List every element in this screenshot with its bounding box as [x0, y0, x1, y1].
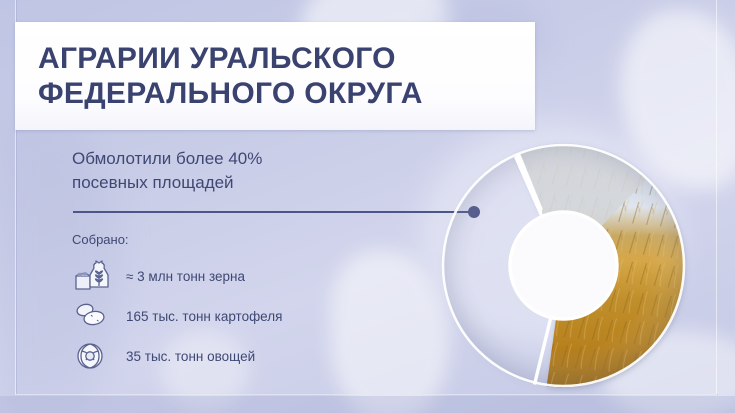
donut-chart	[441, 143, 686, 388]
list-item-label: 35 тыс. тонн овощей	[126, 349, 255, 364]
subtitle-line-1: Обмолотили более 40%	[72, 147, 402, 171]
collected-list: Собрано:	[72, 232, 402, 376]
page-title-line-1: АГРАРИИ УРАЛЬСКОГО	[38, 41, 535, 76]
grain-sack-icon	[72, 259, 126, 293]
page-title-line-2: ФЕДЕРАЛЬНОГО ОКРУГА	[38, 76, 535, 111]
list-item: ≈ 3 млн тонн зерна	[72, 256, 402, 296]
collected-heading: Собрано:	[72, 232, 402, 247]
title-panel: АГРАРИИ УРАЛЬСКОГО ФЕДЕРАЛЬНОГО ОКРУГА	[15, 22, 535, 130]
subtitle-line-2: посевных площадей	[72, 171, 402, 195]
infographic-canvas: АГРАРИИ УРАЛЬСКОГО ФЕДЕРАЛЬНОГО ОКРУГА О…	[0, 0, 735, 413]
bottom-band	[0, 396, 735, 413]
list-item: 35 тыс. тонн овощей	[72, 336, 402, 376]
donut-center-hole	[512, 214, 616, 318]
list-item: 165 тыс. тонн картофеля	[72, 296, 402, 336]
callout-line	[73, 211, 473, 213]
cabbage-icon	[72, 339, 126, 373]
potato-icon	[72, 300, 126, 332]
list-item-label: 165 тыс. тонн картофеля	[126, 309, 282, 324]
subtitle: Обмолотили более 40% посевных площадей	[72, 147, 402, 195]
list-item-label: ≈ 3 млн тонн зерна	[126, 269, 245, 284]
